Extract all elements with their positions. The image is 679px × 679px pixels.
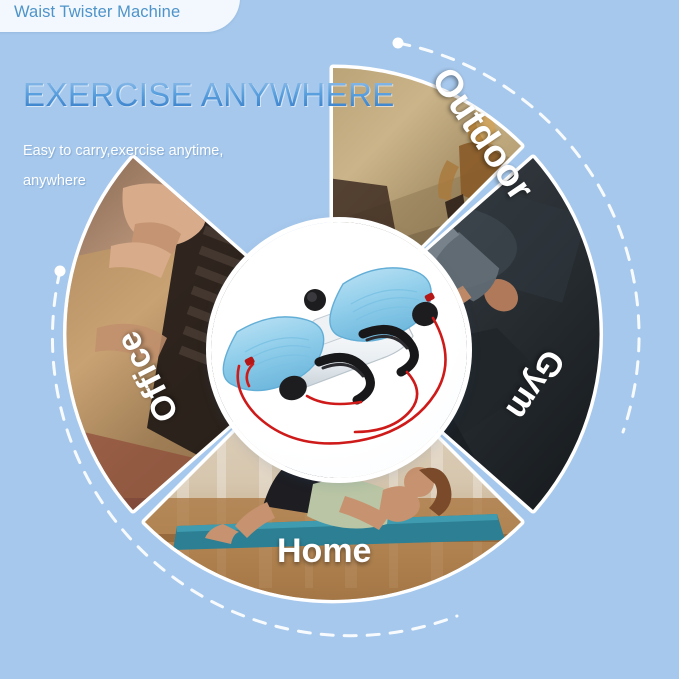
page-subtitle-line2: anywhere (23, 173, 86, 189)
product-image-circle (211, 222, 467, 478)
page-subtitle: Easy to carry,exercise anytime, anywhere (23, 136, 323, 196)
page-title: EXERCISE ANYWHERE (23, 76, 395, 114)
header-tab-label: Waist Twister Machine (14, 3, 180, 22)
page-subtitle-line1: Easy to carry,exercise anytime, (23, 143, 223, 159)
infographic-root: Outdoor Gym Home Office (0, 0, 679, 679)
header-tab: Waist Twister Machine (0, 0, 240, 32)
